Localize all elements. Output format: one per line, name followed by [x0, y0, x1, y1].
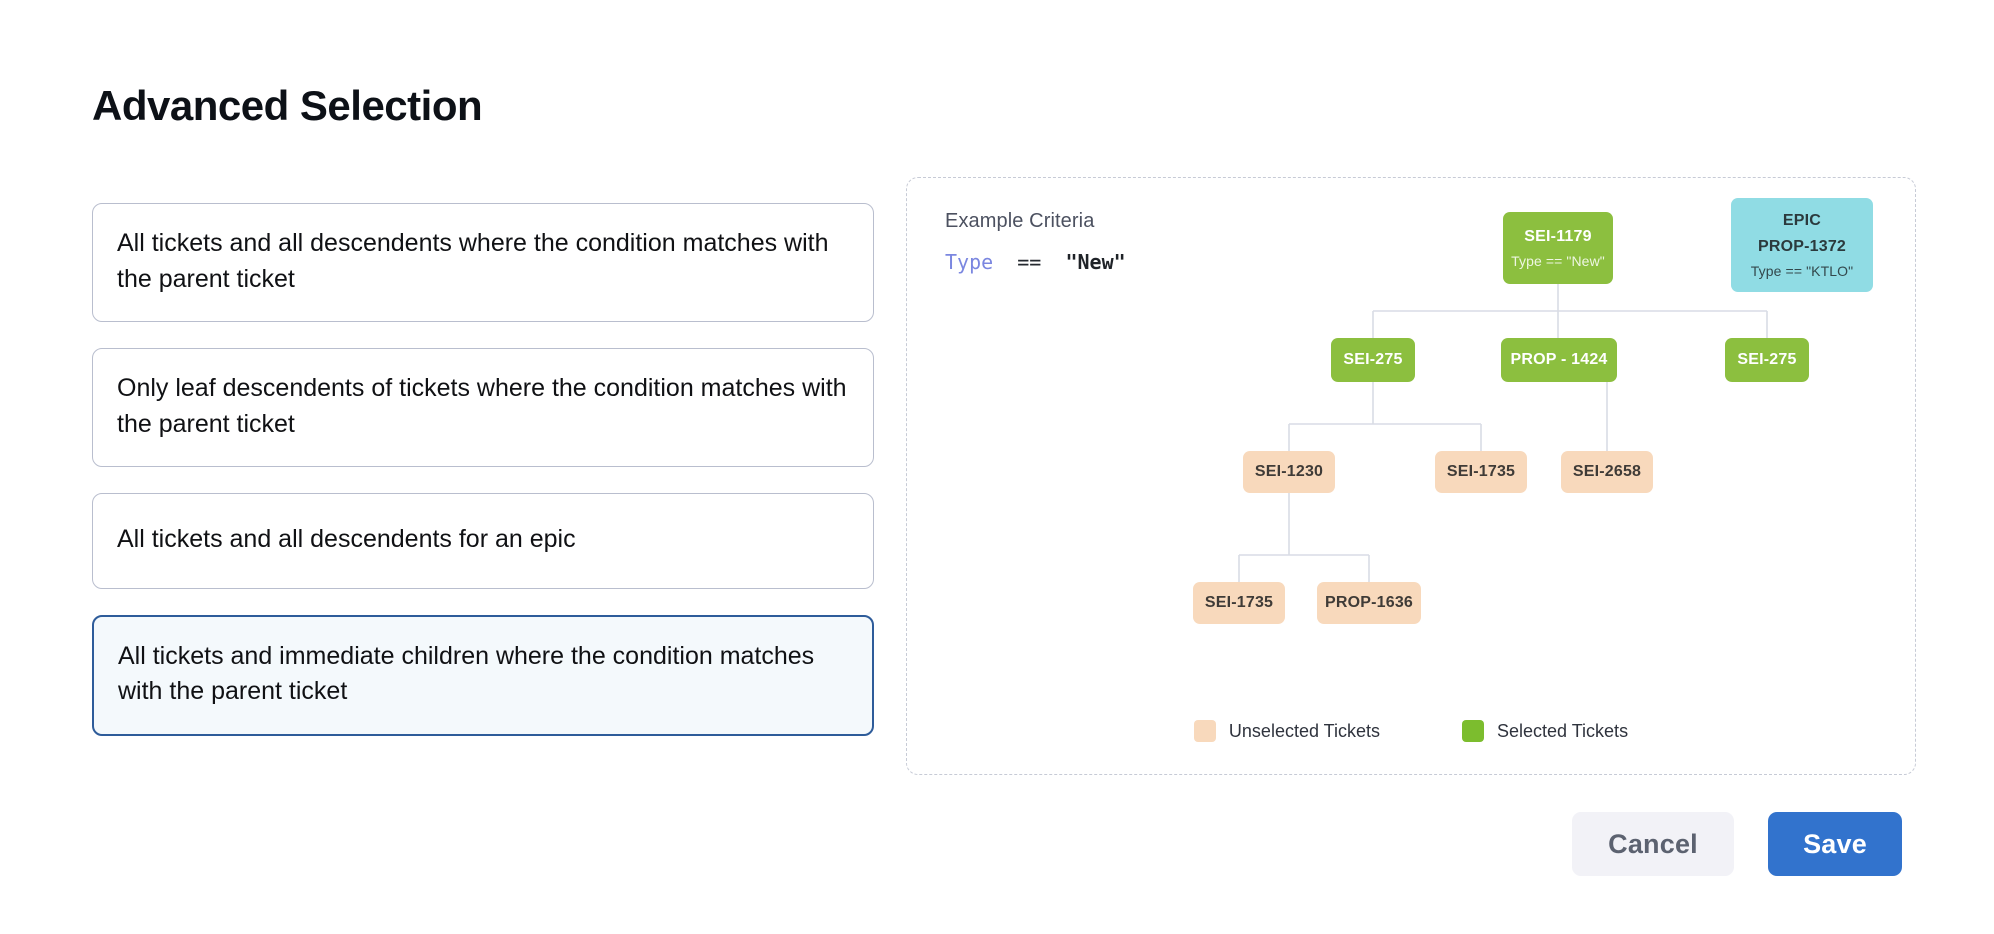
option-label: All tickets and immediate children where… — [118, 642, 814, 706]
tree-node-sei-275-right[interactable]: SEI-275 — [1725, 338, 1809, 382]
option-card-leaf-descendents-condition[interactable]: Only leaf descendents of tickets where t… — [92, 348, 874, 467]
dialog-footer: Cancel Save — [1572, 812, 1902, 876]
node-title: SEI-275 — [1737, 351, 1796, 369]
tree-node-sei-1230[interactable]: SEI-1230 — [1243, 451, 1335, 493]
legend-label: Unselected Tickets — [1229, 721, 1380, 742]
tree-node-prop-1424[interactable]: PROP - 1424 — [1501, 338, 1617, 382]
cancel-button[interactable]: Cancel — [1572, 812, 1734, 876]
node-title: SEI-1735 — [1205, 594, 1273, 612]
node-title: PROP - 1424 — [1510, 351, 1607, 369]
option-card-immediate-children-condition[interactable]: All tickets and immediate children where… — [92, 615, 874, 736]
criteria-label: Example Criteria — [945, 210, 1094, 233]
node-title: PROP-1636 — [1325, 594, 1413, 612]
node-title: SEI-1735 — [1447, 463, 1515, 481]
tree-node-sei-1179[interactable]: SEI-1179 Type == "New" — [1503, 212, 1613, 284]
node-title: SEI-1230 — [1255, 463, 1323, 481]
option-label: All tickets and all descendents for an e… — [117, 525, 576, 553]
legend-item-selected: Selected Tickets — [1462, 720, 1628, 742]
selection-options-list: All tickets and all descendents where th… — [92, 203, 874, 736]
legend-label: Selected Tickets — [1497, 721, 1628, 742]
example-diagram-panel: Example Criteria Type == "New" — [906, 177, 1916, 775]
tree-node-sei-1735-leaf[interactable]: SEI-1735 — [1193, 582, 1285, 624]
node-title-secondary: PROP-1372 — [1758, 238, 1846, 256]
legend-swatch-unselected-icon — [1194, 720, 1216, 742]
node-title: EPIC — [1783, 212, 1821, 230]
node-title: SEI-1179 — [1524, 228, 1591, 246]
node-subtitle: Type == "KTLO" — [1751, 263, 1853, 279]
tree-node-prop-1636[interactable]: PROP-1636 — [1317, 582, 1421, 624]
tree-node-epic-prop-1372[interactable]: EPIC PROP-1372 Type == "KTLO" — [1731, 198, 1873, 292]
node-subtitle: Type == "New" — [1511, 253, 1605, 269]
node-title: SEI-2658 — [1573, 463, 1641, 481]
save-button[interactable]: Save — [1768, 812, 1902, 876]
advanced-selection-page: Advanced Selection All tickets and all d… — [0, 0, 1994, 934]
node-title: SEI-275 — [1343, 351, 1402, 369]
option-label: All tickets and all descendents where th… — [117, 229, 829, 293]
option-label: Only leaf descendents of tickets where t… — [117, 374, 847, 438]
legend-swatch-selected-icon — [1462, 720, 1484, 742]
option-card-all-descendents-condition[interactable]: All tickets and all descendents where th… — [92, 203, 874, 322]
criteria-field: Type — [945, 250, 993, 274]
legend-item-unselected: Unselected Tickets — [1194, 720, 1380, 742]
option-card-all-descendents-epic[interactable]: All tickets and all descendents for an e… — [92, 493, 874, 589]
criteria-value: "New" — [1065, 250, 1125, 274]
criteria-operator: == — [1017, 250, 1041, 274]
page-title: Advanced Selection — [92, 83, 482, 129]
tree-node-sei-275-left[interactable]: SEI-275 — [1331, 338, 1415, 382]
tree-node-sei-2658[interactable]: SEI-2658 — [1561, 451, 1653, 493]
tree-node-sei-1735-mid[interactable]: SEI-1735 — [1435, 451, 1527, 493]
criteria-expression: Type == "New" — [945, 250, 1126, 274]
diagram-legend: Unselected Tickets Selected Tickets — [907, 720, 1915, 742]
